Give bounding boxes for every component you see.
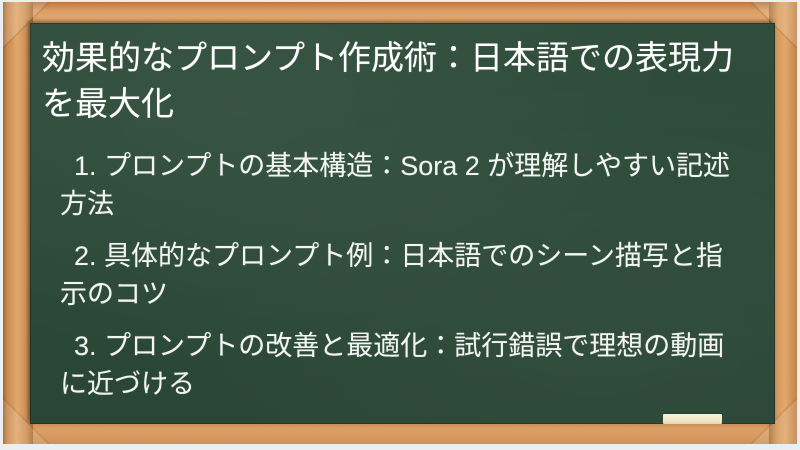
list-item: 3. プロンプトの改善と最適化：試行錯誤で理想の動画に近づける (60, 327, 739, 403)
chalk-stick (663, 414, 722, 424)
frame-rail-left (3, 2, 33, 444)
list-item: 2. 具体的なプロンプト例：日本語でのシーン描写と指示のコツ (60, 237, 739, 313)
chalkboard-wooden-frame: 効果的なプロンプト作成術：日本語での表現力を最大化 1. プロンプトの基本構造：… (3, 2, 797, 444)
chalkboard-content: 効果的なプロンプト作成術：日本語での表現力を最大化 1. プロンプトの基本構造：… (30, 23, 775, 424)
chalkboard-surface: 効果的なプロンプト作成術：日本語での表現力を最大化 1. プロンプトの基本構造：… (30, 23, 775, 424)
list-item: 1. プロンプトの基本構造：Sora 2 が理解しやすい記述方法 (60, 147, 739, 223)
slide-stage: 効果的なプロンプト作成術：日本語での表現力を最大化 1. プロンプトの基本構造：… (0, 0, 800, 450)
slide-title: 効果的なプロンプト作成術：日本語での表現力を最大化 (38, 35, 757, 127)
agenda-list: 1. プロンプトの基本構造：Sora 2 が理解しやすい記述方法 2. 具体的な… (38, 147, 757, 403)
